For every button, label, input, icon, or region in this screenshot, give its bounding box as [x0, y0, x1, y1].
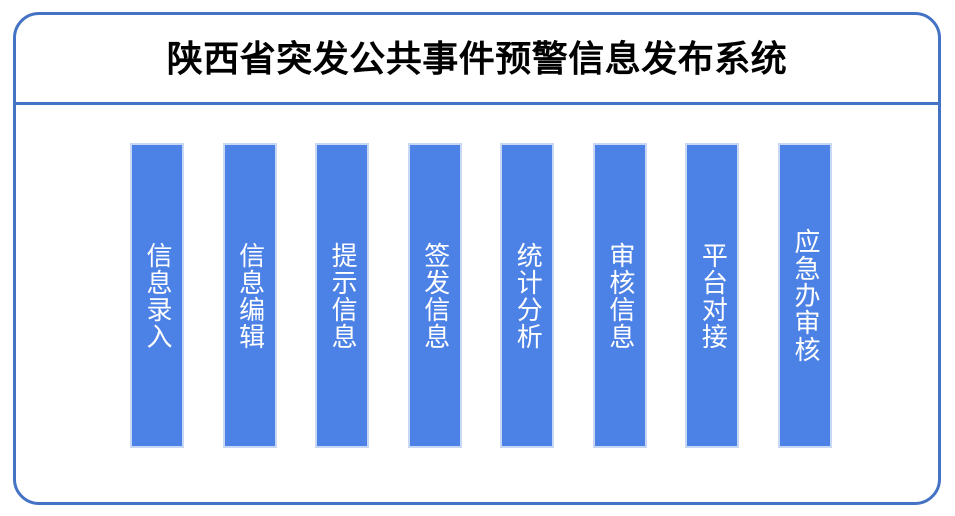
module-bar-issue-information[interactable]: 签发信息: [408, 143, 462, 448]
module-bar-label: 提示信息: [328, 242, 356, 350]
module-bar-label: 应急办审核: [791, 228, 819, 363]
diagram-header: 陕西省突发公共事件预警信息发布系统: [16, 15, 938, 104]
module-bar-label: 签发信息: [421, 242, 449, 350]
module-bar-label: 信息录入: [143, 242, 171, 350]
system-frame: 陕西省突发公共事件预警信息发布系统 信息录入 信息编辑 提示信息 签发信息 统计: [13, 12, 941, 505]
module-bar-statistical-analysis[interactable]: 统计分析: [500, 143, 554, 448]
diagram-canvas: 陕西省突发公共事件预警信息发布系统 信息录入 信息编辑 提示信息 签发信息 统计: [0, 0, 955, 516]
module-bar-label: 统计分析: [513, 242, 541, 350]
module-bar-label: 信息编辑: [236, 242, 264, 350]
module-bar-platform-docking[interactable]: 平台对接: [685, 143, 739, 448]
module-bar-information-entry[interactable]: 信息录入: [130, 143, 184, 448]
module-bar-label: 平台对接: [698, 242, 726, 350]
module-bar-review-information[interactable]: 审核信息: [593, 143, 647, 448]
module-bars-row: 信息录入 信息编辑 提示信息 签发信息 统计分析 审核信息: [130, 143, 832, 448]
module-bar-information-edit[interactable]: 信息编辑: [223, 143, 277, 448]
module-bar-label: 审核信息: [606, 242, 634, 350]
diagram-body: 信息录入 信息编辑 提示信息 签发信息 统计分析 审核信息: [16, 105, 938, 502]
module-bar-prompt-information[interactable]: 提示信息: [315, 143, 369, 448]
module-bar-emergency-office-review[interactable]: 应急办审核: [778, 143, 832, 448]
page-title: 陕西省突发公共事件预警信息发布系统: [167, 40, 788, 80]
